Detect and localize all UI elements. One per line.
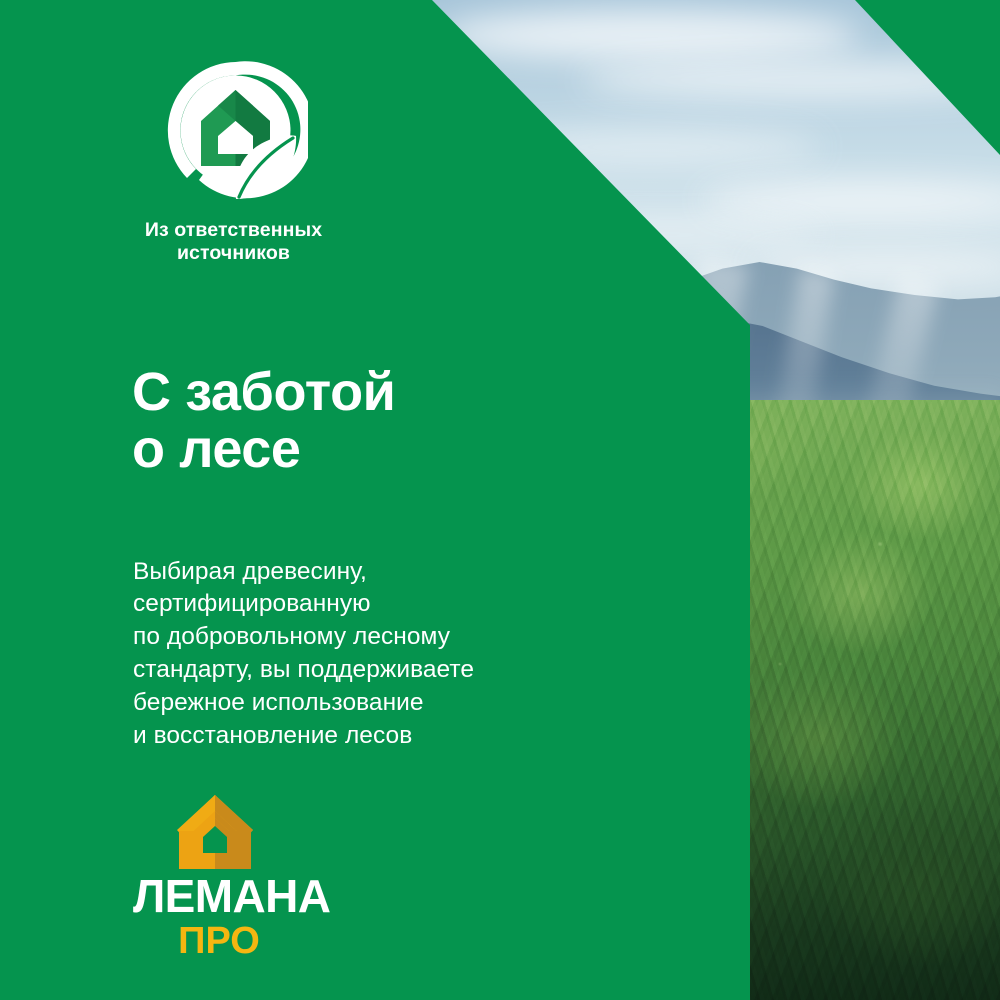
poster-canvas: Из ответственных источников С заботой о … (0, 0, 1000, 1000)
page-title: С заботой о лесе (132, 364, 395, 478)
responsible-sources-house-leaf-mark (163, 58, 308, 203)
certification-badge-caption: Из ответственных источников (126, 219, 341, 264)
brand-name: ЛЕМАНА (133, 873, 333, 919)
certification-badge: Из ответственных источников (130, 58, 345, 264)
poster-content: Из ответственных источников С заботой о … (0, 0, 1000, 1000)
lemana-house-icon (175, 793, 255, 871)
body-paragraph: Выбирая древесину, сертифицированную по … (133, 556, 474, 753)
brand-logo: ЛЕМАНА ПРО (133, 793, 333, 960)
brand-subtitle: ПРО (133, 922, 305, 960)
